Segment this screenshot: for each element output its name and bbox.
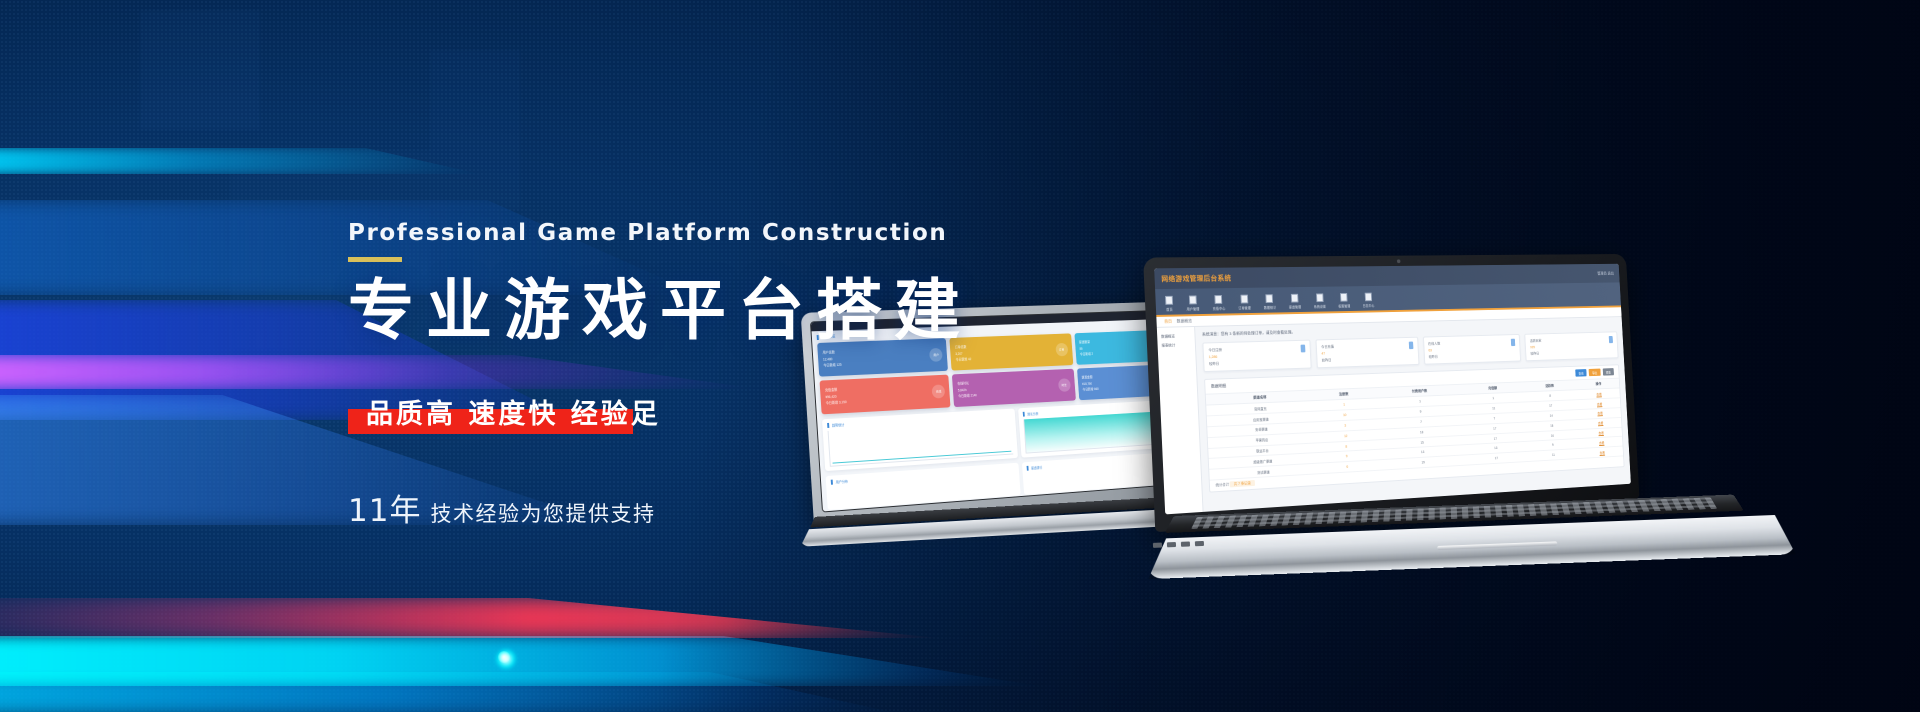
footer-label: 统计合计: [1216, 482, 1230, 487]
kpi-title: 在线人数: [1428, 341, 1441, 348]
trackpad: [1437, 541, 1557, 550]
kpi-sub: 较昨日: [1429, 354, 1442, 361]
clock-icon: 时长: [1058, 378, 1071, 392]
kpi-value: 1,286: [1209, 355, 1218, 359]
person-icon: [1215, 295, 1223, 304]
chart-icon: [1266, 294, 1274, 303]
admin-logo: 网络游戏管理后台系统: [1161, 273, 1231, 284]
nav-item-home[interactable]: 首页: [1165, 295, 1173, 311]
kpi-value: 47: [1321, 352, 1325, 356]
front-laptop: 网络游戏管理后台系统 管理员 退出 首页 用户管理 充值中心 订单管理 数据统计…: [1144, 233, 1776, 587]
stat-tile-sub: 今日新增 860: [1082, 386, 1099, 393]
lock-icon: [1340, 293, 1347, 302]
kpi-card[interactable]: 在线人数 63 较昨日: [1423, 334, 1522, 365]
doc-icon: [1189, 295, 1197, 304]
trend-icon: [1609, 336, 1613, 343]
gold-underline-rule: [348, 257, 402, 262]
kpi-sub: 较昨日: [1322, 357, 1335, 364]
eyebrow-text: Professional Game Platform Construction: [348, 220, 972, 246]
badge-label: 品质高 速度快 经验足: [348, 392, 673, 431]
kpi-title: 活跃玩家: [1530, 338, 1542, 345]
nav-label: 系统设置: [1314, 303, 1326, 308]
query-button[interactable]: 查询: [1575, 369, 1587, 377]
nav-item-recharge[interactable]: 充值中心: [1212, 294, 1225, 310]
sidebar-item-reports[interactable]: 报表统计: [1161, 341, 1191, 351]
nav-label: 用户管理: [1187, 306, 1200, 311]
box-icon: [1291, 293, 1299, 302]
settings-icon: [1316, 293, 1324, 302]
admin-main: 系统消息：您有 3 条新的待处理订单，请及时查看处理。 今日注册 1,286 较…: [1195, 317, 1631, 512]
nav-item-permissions[interactable]: 权限管理: [1338, 292, 1351, 307]
front-laptop-lid: 网络游戏管理后台系统 管理员 退出 首页 用户管理 充值中心 订单管理 数据统计…: [1143, 254, 1639, 532]
admin-body: 数据概览 报表统计 系统消息：您有 3 条新的待处理订单，请及时查看处理。 今日…: [1157, 317, 1631, 514]
footer-value: 共 7 条记录: [1230, 480, 1255, 487]
kpi-card[interactable]: 活跃玩家 925 较昨日: [1525, 331, 1619, 361]
trend-icon: [1300, 345, 1305, 353]
download-icon: [1364, 292, 1371, 301]
reset-button[interactable]: 重置: [1602, 369, 1614, 377]
port-icon: [1181, 541, 1190, 546]
nav-label: 充值中心: [1213, 305, 1226, 310]
experience-tagline: 11年技术经验为您提供支持: [348, 485, 972, 530]
banner-stage: Professional Game Platform Construction …: [0, 0, 1920, 712]
kpi-sub: 较昨日: [1530, 350, 1542, 357]
kpi-card[interactable]: 今日注册 1,286 较昨日: [1202, 340, 1311, 373]
breadcrumb-current: 数据概览: [1177, 318, 1193, 324]
data-panel: 数据明细 查询 导出 重置: [1204, 365, 1624, 493]
export-button[interactable]: 导出: [1589, 369, 1601, 377]
admin-dashboard: 网络游戏管理后台系统 管理员 退出 首页 用户管理 充值中心 订单管理 数据统计…: [1154, 264, 1631, 515]
banner-copy: Professional Game Platform Construction …: [348, 220, 972, 530]
trend-icon: [1511, 339, 1515, 346]
page-title: 专业游戏平台搭建: [348, 276, 972, 346]
list-icon: [1240, 294, 1248, 303]
nav-label: 日志中心: [1362, 302, 1374, 307]
port-icon: [1153, 543, 1162, 548]
kpi-card[interactable]: 今日充值 47 较昨日: [1315, 337, 1419, 369]
tagline-text: 技术经验为您提供支持: [430, 502, 655, 526]
tagline-years: 11年: [348, 493, 421, 529]
nav-label: 渠道管理: [1289, 304, 1301, 309]
nav-item-settings[interactable]: 系统设置: [1313, 293, 1326, 308]
kpi-value: 925: [1530, 345, 1535, 349]
kpi-value: 63: [1428, 348, 1432, 352]
feature-badge: 品质高 速度快 经验足: [348, 392, 673, 431]
trend-icon: [1408, 342, 1413, 350]
front-laptop-screen: 网络游戏管理后台系统 管理员 退出 首页 用户管理 充值中心 订单管理 数据统计…: [1154, 264, 1631, 515]
stat-tile-sub: 今日新增 2: [1080, 351, 1094, 358]
port-icon: [1195, 541, 1204, 546]
webcam-icon: [1397, 259, 1401, 263]
file-icon: [1165, 295, 1173, 304]
kpi-title: 今日充值: [1321, 344, 1334, 351]
breadcrumb-home[interactable]: 首页: [1164, 319, 1172, 325]
panel-button-group: 查询 导出 重置: [1575, 369, 1614, 378]
nav-label: 权限管理: [1338, 303, 1350, 308]
nav-label: 订单管理: [1238, 305, 1251, 310]
data-panel-title: 数据明细: [1211, 384, 1226, 390]
nav-item-stats[interactable]: 数据统计: [1263, 294, 1276, 310]
admin-user-menu[interactable]: 管理员 退出: [1597, 270, 1614, 276]
nav-item-orders[interactable]: 订单管理: [1238, 294, 1251, 310]
nav-item-users[interactable]: 用户管理: [1186, 295, 1200, 311]
port-icon: [1167, 542, 1176, 547]
nav-label: 数据统计: [1264, 304, 1277, 309]
nav-item-logs[interactable]: 日志中心: [1362, 292, 1375, 307]
order-icon: 订单: [1055, 343, 1068, 357]
kpi-sub: 较昨日: [1209, 360, 1223, 367]
nav-item-channels[interactable]: 渠道管理: [1288, 293, 1301, 309]
nav-label: 首页: [1166, 306, 1173, 311]
